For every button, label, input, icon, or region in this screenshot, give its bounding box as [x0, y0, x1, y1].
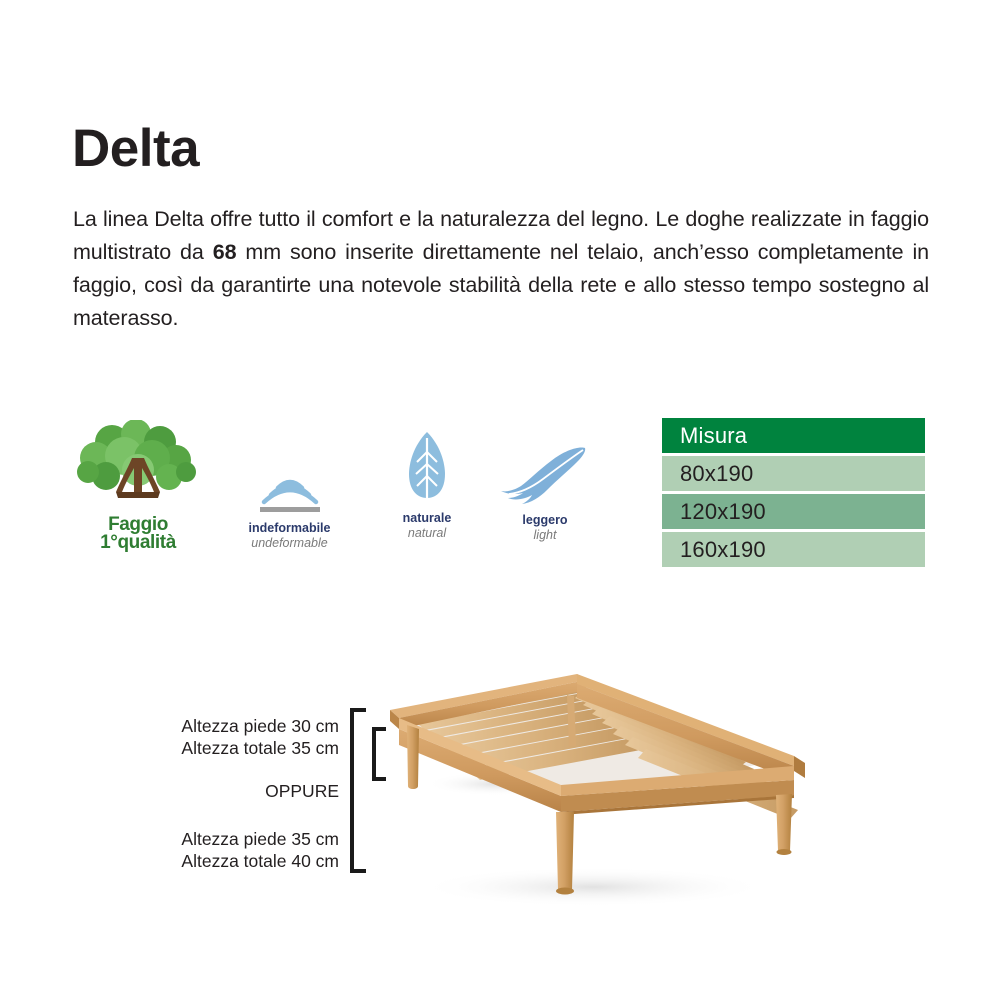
- dimension-option-a-line2: Altezza totale 35 cm: [181, 737, 339, 759]
- dimension-callouts: Altezza piede 30 cm Altezza totale 35 cm…: [150, 700, 385, 880]
- indeformabile-label-it: indeformabile: [227, 521, 352, 536]
- dimension-option-b: Altezza piede 35 cm Altezza totale 40 cm: [181, 828, 339, 872]
- indeformabile-label-en: undeformable: [227, 536, 352, 551]
- misura-table-row[interactable]: 120x190: [662, 494, 925, 529]
- bed-frame-photo: [378, 662, 824, 910]
- feature-naturale: naturale natural: [372, 440, 482, 541]
- dimension-option-b-line2: Altezza totale 40 cm: [181, 850, 339, 872]
- misura-table: Misura 80x190 120x190 160x190: [662, 418, 925, 570]
- leggero-label-en: light: [480, 528, 610, 543]
- feature-faggio-quality: Faggio 1°qualità: [72, 420, 204, 553]
- feature-leggero: leggero light: [480, 442, 610, 543]
- feature-indeformabile: indeformabile undeformable: [227, 450, 352, 551]
- tree-caption-line2: 1°qualità: [72, 532, 204, 553]
- dimension-option-a: Altezza piede 30 cm Altezza totale 35 cm: [181, 715, 339, 759]
- waves-over-bar-icon: [227, 450, 352, 514]
- leaf-icon: [372, 440, 482, 504]
- feature-icon-row: Faggio 1°qualità indeformabile undeforma…: [72, 420, 602, 585]
- naturale-label-it: naturale: [372, 511, 482, 526]
- tree-icon: [72, 420, 204, 512]
- misura-table-header: Misura: [662, 418, 925, 453]
- misura-table-row[interactable]: 160x190: [662, 532, 925, 567]
- dimension-bracket-outer: [350, 708, 366, 873]
- page-title: Delta: [72, 122, 199, 175]
- leggero-label-it: leggero: [480, 513, 610, 528]
- dimension-option-b-line1: Altezza piede 35 cm: [181, 828, 339, 850]
- naturale-label-en: natural: [372, 526, 482, 541]
- dimension-option-a-line1: Altezza piede 30 cm: [181, 715, 339, 737]
- dimension-separator: OPPURE: [265, 780, 339, 802]
- intro-slat-thickness: 68: [213, 240, 237, 264]
- feather-icon: [480, 442, 610, 506]
- intro-paragraph: La linea Delta offre tutto il comfort e …: [73, 203, 929, 335]
- misura-table-row[interactable]: 80x190: [662, 456, 925, 491]
